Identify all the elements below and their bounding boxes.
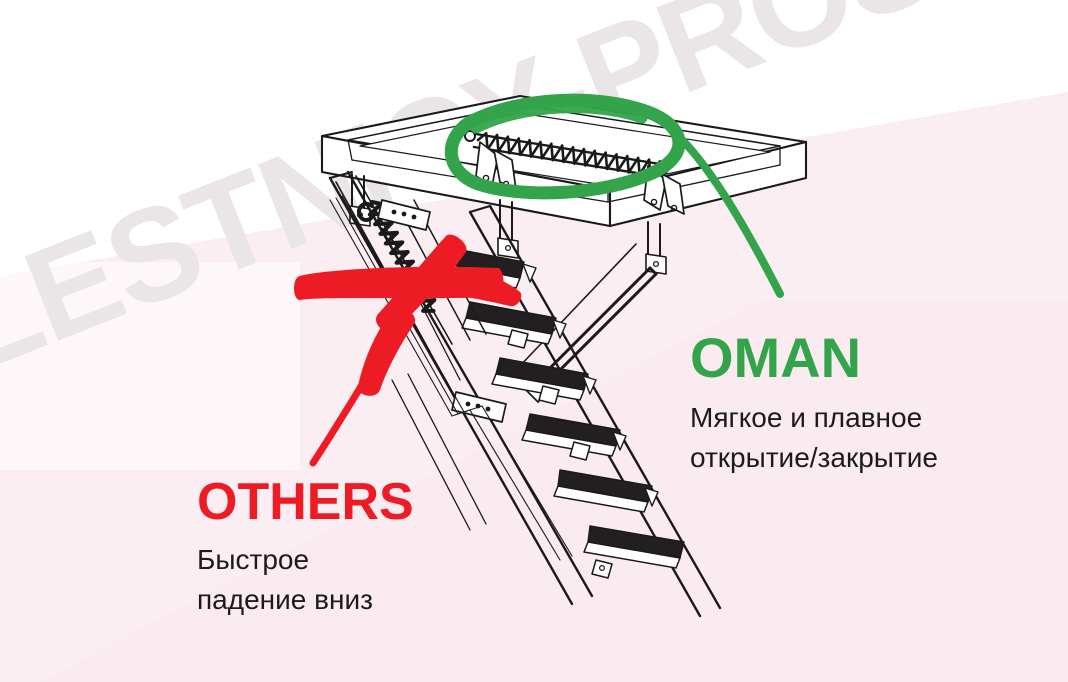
oman-description-line-1: Мягкое и плавное <box>690 398 938 438</box>
others-title: OTHERS <box>197 476 414 528</box>
others-description-line-1: Быстрое <box>197 540 414 580</box>
oman-description-line-2: открытие/закрытие <box>690 438 938 478</box>
others-description-line-2: падение вниз <box>197 580 414 620</box>
oman-title: OMAN <box>690 330 938 386</box>
others-callout: OTHERS Быстрое падение вниз <box>197 476 414 620</box>
oman-callout: OMAN Мягкое и плавное открытие/закрытие <box>690 330 938 478</box>
poster-canvas: LESTNICY-PROSTO.RU <box>0 0 1068 682</box>
